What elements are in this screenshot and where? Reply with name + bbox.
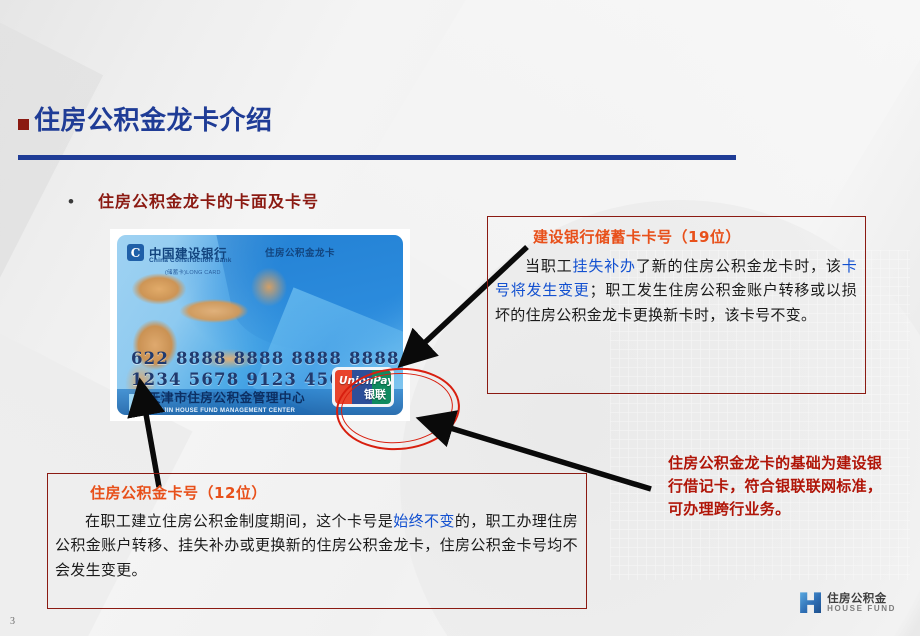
page-number: 3: [10, 616, 15, 627]
body-text-run: 当职工: [525, 257, 573, 275]
card-center-name-en: TIANJIN HOUSE FUND MANAGEMENT CENTER: [148, 408, 295, 414]
house-fund-logo-icon: [800, 592, 821, 613]
page-title: 住房公积金龙卡介绍: [18, 108, 273, 134]
callout-fund-heading: 住房公积金卡号（12位）: [90, 482, 267, 503]
highlighted-phrase: 挂失补办: [573, 257, 636, 275]
ccb-logo-icon: C: [127, 244, 144, 261]
callout-debit-heading: 建设银行储蓄卡卡号（19位）: [533, 226, 741, 247]
callout-fund-body: 在职工建立住房公积金制度期间，这个卡号是始终不变的，职工办理住房公积金账户转移、…: [55, 509, 578, 582]
title-underline-rule: [18, 155, 736, 160]
highlighted-phrase: 始终不变: [393, 512, 455, 530]
card-product-name: 住房公积金龙卡: [265, 245, 335, 259]
brand-name-en: HOUSE FUND: [827, 604, 896, 614]
slide-canvas: 住房公积金龙卡介绍 • 住房公积金龙卡的卡面及卡号 C 中国建设银行 China…: [0, 0, 920, 636]
body-text-run: 了新的住房公积金龙卡时，该: [636, 257, 842, 275]
bullet-dot-icon: •: [68, 193, 74, 210]
card-number-line-1: 622 8888 8888 8888 8888: [131, 349, 400, 368]
body-text-run: 在职工建立住房公积金制度期间，这个卡号是: [85, 512, 393, 530]
brand-logo: 住房公积金 HOUSE FUND: [800, 592, 896, 614]
red-note-text: 住房公积金龙卡的基础为建设银行借记卡，符合银联联网标准，可办理跨行业务。: [668, 452, 893, 520]
callout-fund-card-number: 住房公积金卡号（12位） 在职工建立住房公积金制度期间，这个卡号是始终不变的，职…: [47, 473, 587, 609]
title-bullet-square: [18, 119, 29, 130]
card-bank-name-en: China Construction Bank: [149, 257, 232, 264]
card-center-name-cn: 天津市住房公积金管理中心: [148, 387, 305, 406]
card-product-sub-label: (储蓄卡)LONG CARD: [165, 268, 221, 276]
subtitle-text: 住房公积金龙卡的卡面及卡号: [98, 188, 319, 212]
page-title-text: 住房公积金龙卡介绍: [34, 108, 273, 134]
subtitle-bullet-row: • 住房公积金龙卡的卡面及卡号: [68, 188, 319, 212]
brand-text-block: 住房公积金 HOUSE FUND: [827, 592, 896, 614]
callout-debit-card-number: 建设银行储蓄卡卡号（19位） 当职工挂失补办了新的住房公积金龙卡时，该卡号将发生…: [487, 216, 866, 394]
callout-debit-body: 当职工挂失补办了新的住房公积金龙卡时，该卡号将发生变更；职工发生住房公积金账户转…: [495, 254, 857, 327]
brand-name-cn: 住房公积金: [827, 592, 896, 604]
